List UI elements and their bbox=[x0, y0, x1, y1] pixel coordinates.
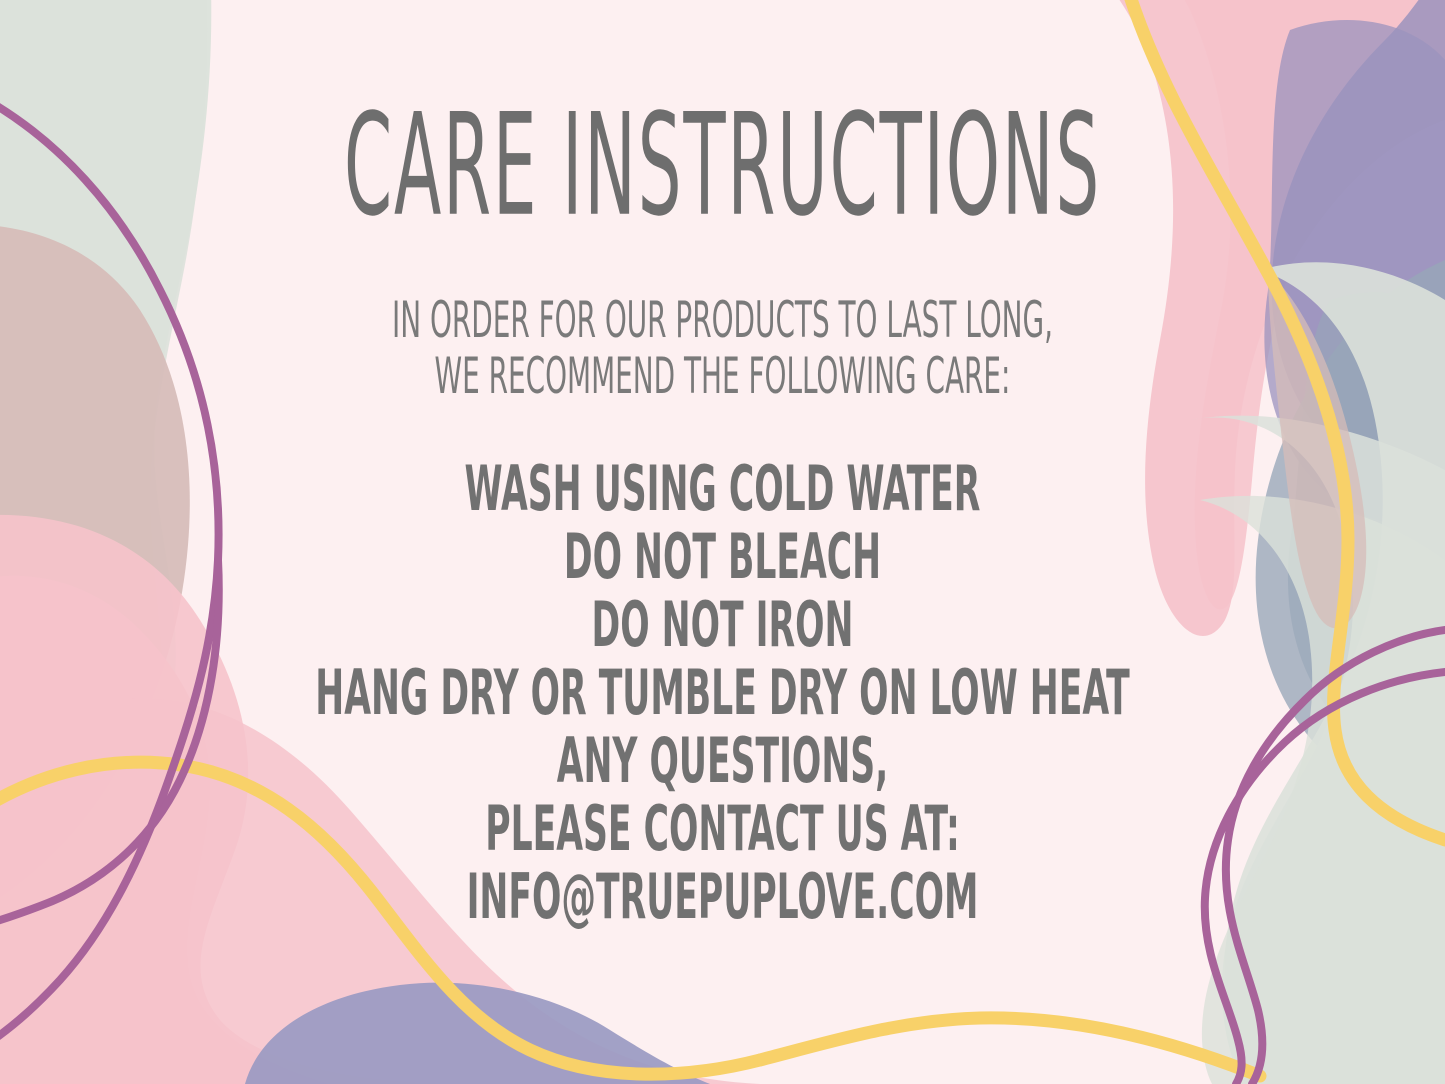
instruction-dry: HANG DRY OR TUMBLE DRY ON LOW HEAT bbox=[275, 659, 1171, 727]
subtitle-block: IN ORDER FOR OUR PRODUCTS TO LAST LONG, … bbox=[0, 292, 1445, 404]
instruction-wash: WASH USING COLD WATER bbox=[275, 455, 1171, 523]
instruction-contact: PLEASE CONTACT US AT: bbox=[275, 795, 1171, 863]
instruction-iron: DO NOT IRON bbox=[275, 591, 1171, 659]
page-title: CARE INSTRUCTIONS bbox=[289, 96, 1156, 237]
instruction-questions: ANY QUESTIONS, bbox=[275, 727, 1171, 795]
care-instructions-card: CARE INSTRUCTIONS IN ORDER FOR OUR PRODU… bbox=[0, 0, 1445, 1084]
instruction-bleach: DO NOT BLEACH bbox=[275, 523, 1171, 591]
card-content: CARE INSTRUCTIONS IN ORDER FOR OUR PRODU… bbox=[0, 0, 1445, 1084]
instruction-list: WASH USING COLD WATER DO NOT BLEACH DO N… bbox=[0, 455, 1445, 931]
subtitle-line-1: IN ORDER FOR OUR PRODUCTS TO LAST LONG, bbox=[275, 292, 1171, 348]
contact-email: INFO@TRUEPUPLOVE.COM bbox=[275, 863, 1171, 931]
subtitle-line-2: WE RECOMMEND THE FOLLOWING CARE: bbox=[275, 348, 1171, 404]
